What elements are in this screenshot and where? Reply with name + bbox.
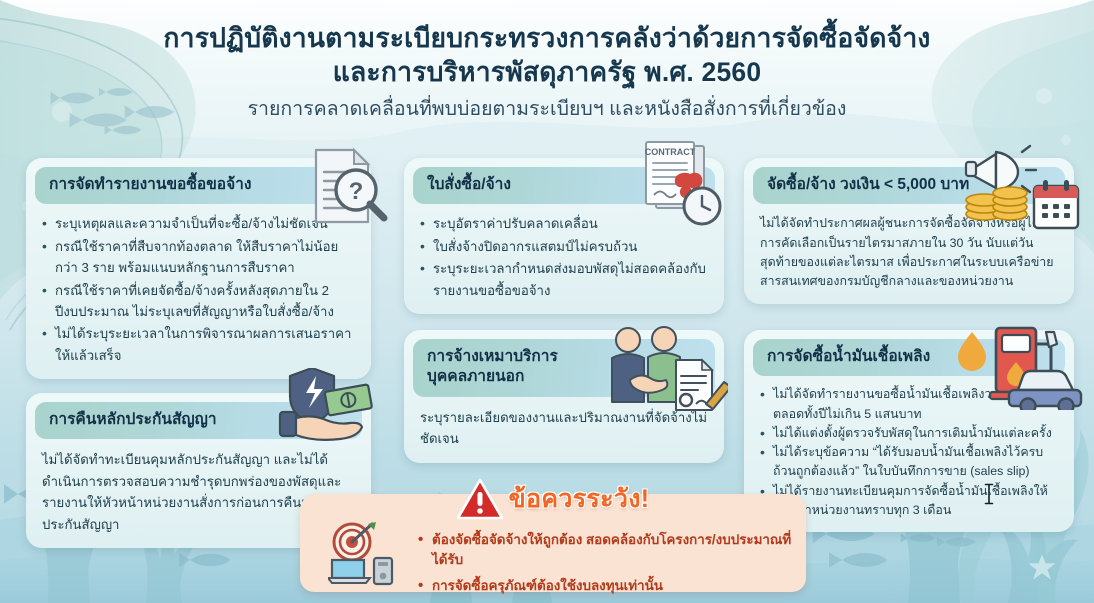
card-outsourcing-title-line-2: บุคคลภายนอก [427, 368, 524, 385]
starfish-icon [1029, 554, 1056, 579]
page-subtitle: รายการคลาดเคลื่อนที่พบบ่อยตามระเบียบฯ แล… [0, 97, 1094, 122]
card-small-purchase-header: จัดซื้อ/จ้าง วงเงิน < 5,000 บาท [753, 167, 1065, 204]
card-outsourcing: การจ้างเหมาบริการ บุคคลภายนอก ระบุรายละเ… [404, 330, 724, 463]
warning-title-row: ข้อควรระวัง! [300, 478, 806, 520]
target-dart-icon [334, 522, 376, 560]
card-small-purchase: จัดซื้อ/จ้าง วงเงิน < 5,000 บาท ไม่ได้จั… [744, 158, 1074, 304]
card-outsourcing-header: การจ้างเหมาบริการ บุคคลภายนอก [413, 339, 715, 397]
card-contract-guarantee-title: การคืนหลักประกันสัญญา [49, 410, 217, 430]
page-header: การปฏิบัติงานตามระเบียบกระทรวงการคลังว่า… [0, 22, 1094, 122]
card-purchase-order-title: ใบสั่งซื้อ/จ้าง [427, 175, 511, 195]
list-item: ต้องจัดซื้อจัดจ้างให้ถูกต้อง สอดคล้องกับ… [418, 530, 792, 570]
card-fuel-purchase-title: การจัดซื้อน้ำมันเชื้อเพลิง [767, 347, 930, 367]
list-item: ระบุอัตราค่าปรับคลาดเคลื่อน [420, 213, 708, 234]
card-purchase-order-header: ใบสั่งซื้อ/จ้าง [413, 167, 715, 204]
card-small-purchase-title: จัดซื้อ/จ้าง วงเงิน < 5,000 บาท [767, 175, 969, 195]
card-report-header: การจัดทำรายงานขอซื้อขอจ้าง [35, 167, 362, 204]
svg-text:CONTRACT: CONTRACT [645, 147, 696, 157]
card-outsourcing-body: ระบุรายละเอียดของงานและปริมาณงานที่จัดจ้… [404, 397, 724, 463]
card-outsourcing-title: การจ้างเหมาบริการ บุคคลภายนอก [427, 347, 558, 388]
card-small-purchase-body: ไม่ได้จัดทำประกาศผลผู้ชนะการจัดซื้อจัดจ้… [744, 204, 1074, 304]
computer-desktop-icon [328, 558, 392, 584]
warning-list: ต้องจัดซื้อจัดจ้างให้ถูกต้อง สอดคล้องกับ… [418, 530, 792, 602]
warning-icons-group [328, 522, 414, 586]
list-item: ไม่ได้แต่งตั้งผู้ตรวจรับพัสดุในการเติมน้… [760, 424, 1058, 443]
card-purchase-order: ใบสั่งซื้อ/จ้าง ระบุอัตราค่าปรับคลาดเคลื… [404, 158, 724, 314]
list-item: กรณีใช้ราคาที่สืบจากท้องตลาด ให้สืบราคาไ… [42, 236, 355, 279]
card-purchase-order-body: ระบุอัตราค่าปรับคลาดเคลื่อน ใบสั่งจ้างปิ… [404, 204, 724, 314]
page-title-line-2: และการบริหารพัสดุภาครัฐ พ.ศ. 2560 [0, 56, 1094, 90]
list-item: การจัดซื้อครุภัณฑ์ต้องใช้งบลงทุนเท่านั้น [418, 576, 792, 596]
list-item: กรณีใช้ราคาที่เคยจัดซื้อ/จ้างครั้งหลังสุ… [42, 280, 355, 323]
paragraph: ไม่ได้จัดทำประกาศผลผู้ชนะการจัดซื้อจัดจ้… [760, 214, 1058, 291]
card-contract-guarantee-header: การคืนหลักประกันสัญญา [35, 402, 362, 439]
card-report: การจัดทำรายงานขอซื้อขอจ้าง ระบุเหตุผลและ… [26, 158, 371, 379]
card-fuel-purchase-header: การจัดซื้อน้ำมันเชื้อเพลิง [753, 339, 1065, 376]
card-outsourcing-title-line-1: การจ้างเหมาบริการ [427, 348, 558, 365]
page-title-line-1: การปฏิบัติงานตามระเบียบกระทรวงการคลังว่า… [0, 22, 1094, 56]
list-item: ใบสั่งจ้างปิดอากรแสตมป์ไม่ครบถ้วน [420, 236, 708, 257]
warning-title: ข้อควรระวัง! [509, 479, 650, 519]
warning-box: ข้อควรระวัง! ต้องจัดซื้อจัดจ้างให้ถูกต้อ [300, 494, 806, 592]
list-item: ไม่ได้ระบุระยะเวลาในการพิจารณาผลการเสนอร… [42, 323, 355, 366]
card-report-title: การจัดทำรายงานขอซื้อขอจ้าง [49, 175, 251, 195]
list-item: ไม่ได้จัดทำรายงานขอซื้อน้ำมันเชื้อเพลิงว… [760, 385, 1058, 423]
list-item: ไม่ได้ระบุข้อความ “ได้รับมอบน้ำมันเชื้อเ… [760, 443, 1058, 481]
infographic-canvas: การปฏิบัติงานตามระเบียบกระทรวงการคลังว่า… [0, 0, 1094, 603]
list-item: ระบุระยะเวลากำหนดส่งมอบพัสดุไม่สอดคล้องก… [420, 258, 708, 301]
text-ibeam-cursor [983, 482, 995, 506]
paragraph: ระบุรายละเอียดของงานและปริมาณงานที่จัดจ้… [420, 407, 708, 450]
warning-triangle-icon [457, 478, 503, 520]
card-report-body: ระบุเหตุผลและความจำเป็นที่จะซื้อ/จ้างไม่… [26, 204, 371, 379]
list-item: ระบุเหตุผลและความจำเป็นที่จะซื้อ/จ้างไม่… [42, 213, 355, 234]
